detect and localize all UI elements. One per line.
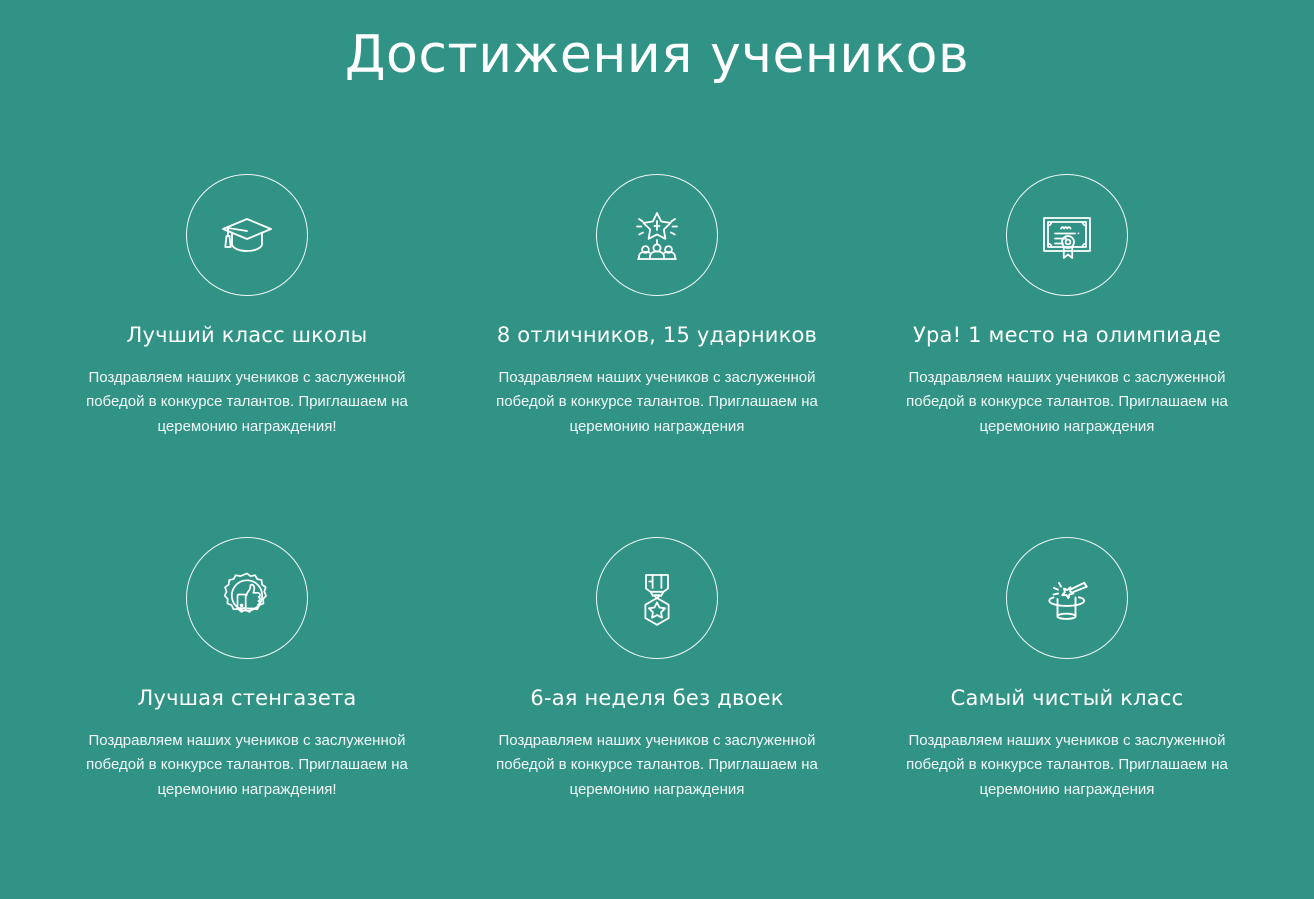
star-audience-icon bbox=[626, 204, 688, 266]
achievement-title: Лучший класс школы bbox=[127, 322, 368, 348]
achievement-text: Поздравляем наших учеников с заслуженной… bbox=[67, 729, 427, 802]
achievement-text: Поздравляем наших учеников с заслуженной… bbox=[67, 366, 427, 439]
icon-circle bbox=[1006, 174, 1128, 296]
magic-hat-icon bbox=[1036, 567, 1098, 629]
achievement-title: 8 отличников, 15 ударников bbox=[497, 322, 817, 348]
icon-circle bbox=[186, 537, 308, 659]
achievement-card: Лучшая стенгазета Поздравляем наших учен… bbox=[42, 537, 452, 802]
achievement-card: Лучший класс школы Поздравляем наших уче… bbox=[42, 174, 452, 439]
graduation-cap-icon bbox=[216, 204, 278, 266]
achievement-card: Ура! 1 место на олимпиаде Поздравляем на… bbox=[862, 174, 1272, 439]
achievement-text: Поздравляем наших учеников с заслуженной… bbox=[887, 729, 1247, 802]
achievements-grid: Лучший класс школы Поздравляем наших уче… bbox=[0, 174, 1314, 802]
achievement-text: Поздравляем наших учеников с заслуженной… bbox=[477, 729, 837, 802]
achievement-card: 6-ая неделя без двоек Поздравляем наших … bbox=[452, 537, 862, 802]
achievement-text: Поздравляем наших учеников с заслуженной… bbox=[887, 366, 1247, 439]
achievement-text: Поздравляем наших учеников с заслуженной… bbox=[477, 366, 837, 439]
page-title: Достижения учеников bbox=[0, 0, 1314, 86]
certificate-icon bbox=[1036, 204, 1098, 266]
achievement-card: Самый чистый класс Поздравляем наших уче… bbox=[862, 537, 1272, 802]
icon-circle bbox=[596, 537, 718, 659]
achievement-title: Самый чистый класс bbox=[951, 685, 1184, 711]
thumbs-up-badge-icon bbox=[216, 567, 278, 629]
achievement-title: Лучшая стенгазета bbox=[138, 685, 357, 711]
achievement-title: 6-ая неделя без двоек bbox=[530, 685, 783, 711]
icon-circle bbox=[596, 174, 718, 296]
achievement-card: 8 отличников, 15 ударников Поздравляем н… bbox=[452, 174, 862, 439]
icon-circle bbox=[1006, 537, 1128, 659]
achievement-title: Ура! 1 место на олимпиаде bbox=[913, 322, 1221, 348]
medal-icon bbox=[626, 567, 688, 629]
achievements-page: Достижения учеников Лучший класс школы П… bbox=[0, 0, 1314, 899]
icon-circle bbox=[186, 174, 308, 296]
